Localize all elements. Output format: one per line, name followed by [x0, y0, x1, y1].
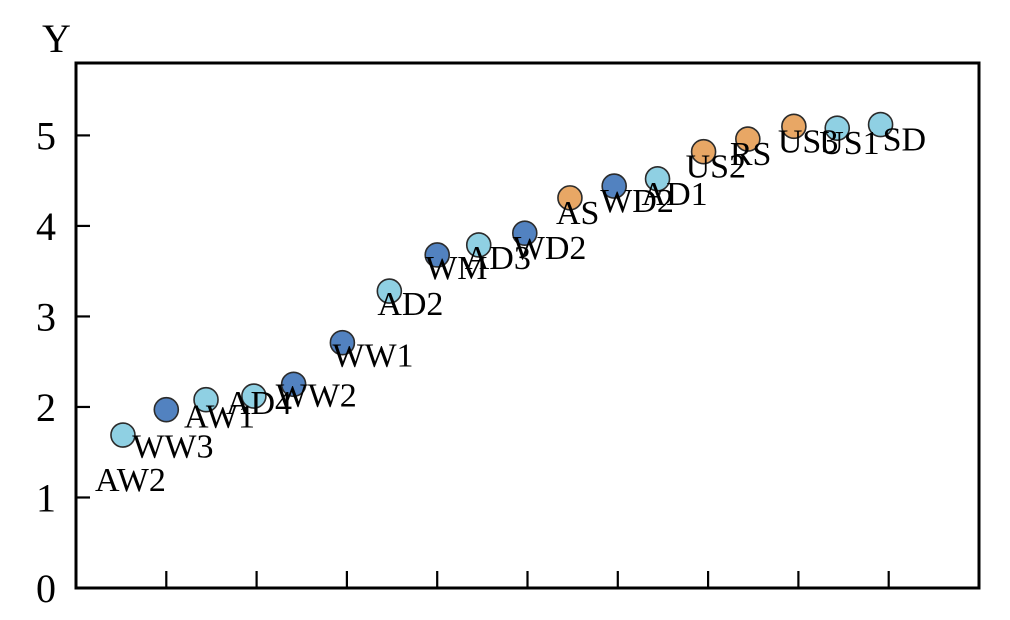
y-tick-label: 5: [36, 113, 56, 158]
scatter-point-label: US1: [819, 125, 879, 162]
scatter-plot: 012345 AW2WW3AW1AD4WW2WW1AD2WMAD3WD2ASWD…: [0, 0, 1010, 620]
scatter-point[interactable]: [154, 398, 178, 422]
scatter-point-label: WD2: [513, 230, 587, 267]
scatter-point-label: AS: [556, 195, 599, 232]
y-tick-label: 1: [36, 475, 56, 520]
scatter-point-label: AW2: [95, 462, 166, 499]
data-point-labels: AW2WW3AW1AD4WW2WW1AD2WMAD3WD2ASWD2AD1US2…: [95, 122, 926, 499]
y-tick-label: 0: [36, 566, 56, 611]
y-tick-label: 2: [36, 385, 56, 430]
y-axis-ticks: [76, 135, 90, 497]
x-axis-ticks: [166, 571, 888, 588]
scatter-point-label: AD2: [377, 286, 443, 323]
y-axis-tick-labels: 012345: [36, 113, 56, 611]
scatter-point-label: SD: [883, 122, 926, 159]
chart-canvas: 012345 AW2WW3AW1AD4WW2WW1AD2WMAD3WD2ASWD…: [0, 0, 1010, 620]
y-tick-label: 3: [36, 294, 56, 339]
y-axis-title: Y: [42, 16, 71, 61]
y-tick-label: 4: [36, 204, 56, 249]
scatter-point-label: RS: [730, 136, 772, 173]
scatter-point-label: WW2: [276, 377, 357, 414]
scatter-point-label: WW1: [332, 338, 413, 375]
